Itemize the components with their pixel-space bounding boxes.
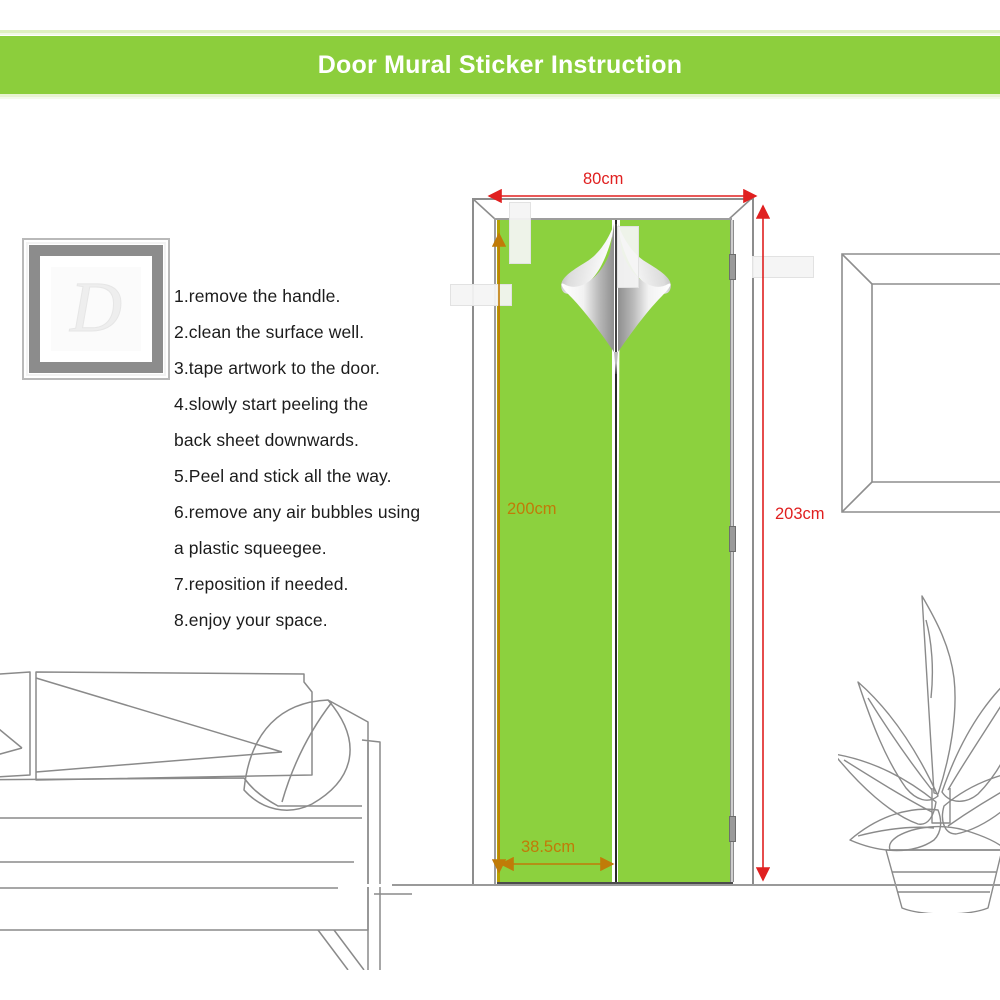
sofa-back-cushion-left [0, 672, 30, 780]
door-hinge-icon [729, 526, 736, 552]
dimension-label-panel-width: 38.5cm [521, 838, 575, 857]
sofa-leg [318, 930, 364, 970]
door-frame-bevel-right [728, 198, 752, 220]
page-title: Door Mural Sticker Instruction [318, 51, 682, 80]
instruction-step: 6.remove any air bubbles using [174, 494, 474, 530]
plant-pot-ring [892, 872, 996, 892]
plant-soil [889, 827, 1000, 850]
instruction-step: a plastic squeegee. [174, 530, 474, 566]
banner-bar: Door Mural Sticker Instruction [0, 36, 1000, 94]
instruction-step: 7.reposition if needed. [174, 566, 474, 602]
sofa-pillow-fold [282, 702, 332, 802]
door-hinge-icon [729, 254, 736, 280]
peel-tip [614, 352, 618, 374]
instruction-step: 5.Peel and stick all the way. [174, 458, 474, 494]
tape-piece-top-right [617, 226, 639, 288]
plant-leaf-vein-left-1 [868, 698, 932, 790]
instruction-step: 3.tape artwork to the door. [174, 350, 474, 386]
door-frame-bevel-left [472, 198, 496, 220]
plant-leaf-lower-left [850, 809, 941, 850]
right-frame-bevel-bottom [842, 482, 872, 512]
door-assembly [462, 196, 762, 886]
instruction-step: back sheet downwards. [174, 422, 474, 458]
door-hinge-icon [729, 816, 736, 842]
frame-letter-glyph: D [70, 266, 122, 349]
right-frame-bevel-top [842, 254, 872, 284]
door-sticker-left-edge [497, 220, 500, 882]
plant-leaf-mid-left [838, 754, 936, 824]
banner-top-rule-2 [0, 33, 1000, 35]
plant-leaf-vein-left-2 [844, 760, 932, 812]
tape-piece-right-side [752, 256, 814, 278]
wall-picture-frame: D [22, 238, 170, 380]
instruction-list: 1.remove the handle. 2.clean the surface… [174, 278, 474, 638]
header-banner: Door Mural Sticker Instruction [0, 30, 1000, 102]
instruction-step: 4.slowly start peeling the [174, 386, 474, 422]
instruction-step: 1.remove the handle. [174, 278, 474, 314]
tape-piece-top-left [509, 202, 531, 264]
instruction-step: 2.clean the surface well. [174, 314, 474, 350]
sofa-cushion-crease-left [0, 682, 22, 770]
sofa-seat-top-line [0, 778, 362, 806]
plant-pot [886, 850, 1000, 913]
sofa-arm-frame-right [362, 740, 380, 970]
tape-piece-left-side [450, 284, 512, 306]
instruction-poster: Door Mural Sticker Instruction D 1.remov… [0, 0, 1000, 1000]
right-wall-frame [840, 252, 1000, 514]
peeling-backing-sheet [540, 224, 692, 384]
sofa-cushion-crease [36, 678, 282, 772]
plant-leaf-upper-right [942, 660, 1000, 801]
potted-plant-illustration [838, 578, 1000, 913]
dimension-label-width-80cm: 80cm [583, 170, 623, 189]
dimension-label-height-200cm: 200cm [507, 500, 557, 519]
floor-line-mask [0, 884, 392, 887]
sofa-illustration [0, 630, 412, 970]
dimension-label-height-203cm: 203cm [775, 505, 825, 524]
plant-leaf-vein-left-3 [858, 827, 934, 836]
right-frame-inner-rect [872, 284, 1000, 482]
sofa-back-cushion-right [36, 672, 312, 780]
door-bottom-edge [497, 882, 733, 884]
banner-bottom-rule-2 [0, 97, 1000, 99]
right-frame-outer-rect [842, 254, 1000, 512]
